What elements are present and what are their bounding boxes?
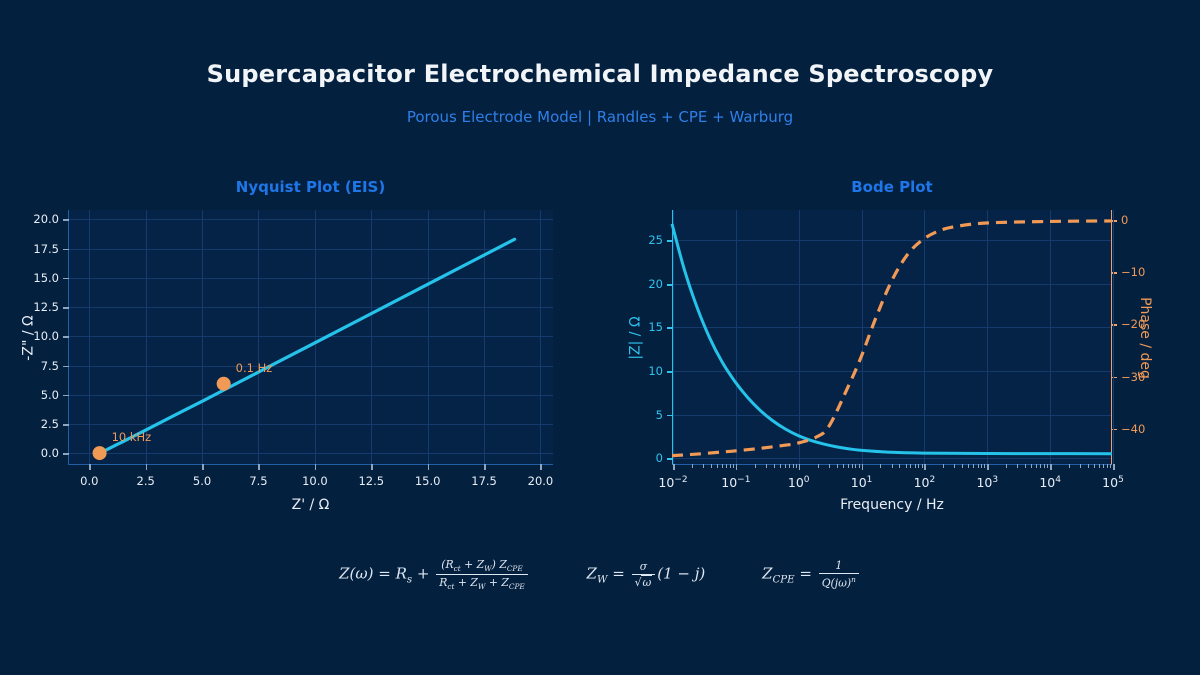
eq3-lhs: Z	[762, 565, 772, 583]
x-tick-label: 103	[976, 475, 998, 490]
eq2-den: ω	[641, 575, 652, 589]
eq1-num-c: ) Z	[492, 558, 507, 571]
eq1-num-a-sub: ct	[454, 564, 461, 573]
y-tick-label: 7.5	[41, 359, 59, 373]
eq1-numerator: (Rct + ZW) ZCPE	[436, 558, 527, 575]
y-tick-label-left: 10	[648, 364, 663, 378]
eq1-den-c: + Z	[485, 576, 508, 589]
figure-title: Supercapacitor Electrochemical Impedance…	[0, 60, 1200, 88]
nyquist-frequency-marker[interactable]	[93, 446, 107, 460]
eq2-equals: =	[607, 565, 629, 583]
x-tick-label: 5.0	[193, 474, 211, 488]
eq3-den-a: Q(jω)	[822, 577, 851, 590]
x-tick-label: 12.5	[358, 474, 384, 488]
nyquist-yaxis-label: -Z" / Ω	[21, 315, 37, 360]
eq1-den-c-sub: CPE	[509, 582, 525, 591]
eq2-denominator: √ω	[632, 575, 656, 589]
x-tick-label: 0.0	[80, 474, 98, 488]
eq2-numerator: σ	[632, 560, 656, 575]
eq3-fraction: 1 Q(jω)n	[819, 559, 859, 590]
x-tick-label: 10.0	[302, 474, 328, 488]
x-tick-label: 105	[1102, 475, 1124, 490]
gridline-vertical	[1113, 210, 1114, 464]
nyquist-xaxis-label: Z' / Ω	[292, 497, 330, 513]
x-tick-mark	[1113, 464, 1115, 470]
x-tick-label: 17.5	[471, 474, 497, 488]
nyquist-series-line	[100, 239, 515, 453]
y-tick-label: 2.5	[41, 417, 59, 431]
x-tick-label: 15.0	[415, 474, 441, 488]
eq2-lhs: Z	[587, 565, 597, 583]
bode-curves	[672, 210, 1112, 465]
nyquist-frequency-marker[interactable]	[217, 377, 231, 391]
nyquist-marker-label: 0.1 Hz	[236, 361, 273, 375]
figure-subtitle: Porous Electrode Model | Randles + CPE +…	[0, 108, 1200, 126]
eq3-equals: =	[795, 565, 817, 583]
eq1-num-b-sub: W	[484, 564, 492, 573]
nyquist-panel: Nyquist Plot (EIS) 0.02.55.07.510.012.51…	[68, 210, 553, 465]
eq3-lhs-sub: CPE	[773, 575, 795, 586]
eq1-denominator: Rct + ZW + ZCPE	[436, 575, 527, 591]
eq1-lhs-sub: s	[407, 575, 412, 586]
nyquist-marker-label: 10 kHz	[112, 430, 152, 444]
bode-phase-line	[672, 221, 1112, 456]
eq3-denominator: Q(jω)n	[819, 574, 859, 590]
bode-magnitude-line	[672, 224, 1112, 454]
x-tick-label: 102	[914, 475, 936, 490]
eq2-fraction: σ √ω	[632, 560, 656, 589]
y-tick-label-right: 0	[1121, 213, 1128, 227]
x-tick-label: 101	[851, 475, 873, 490]
y-tick-label: 12.5	[33, 300, 59, 314]
eq1-fraction: (Rct + ZW) ZCPE Rct + ZW + ZCPE	[436, 558, 527, 591]
eq3-numerator: 1	[819, 559, 859, 574]
x-tick-label: 10−2	[658, 475, 687, 490]
bode-xaxis-label: Frequency / Hz	[840, 497, 944, 513]
nyquist-curves	[68, 210, 553, 465]
x-tick-label: 7.5	[249, 474, 267, 488]
eq1-num-c-sub: CPE	[507, 564, 523, 573]
y-tick-label-right: −40	[1121, 422, 1145, 436]
x-tick-label: 100	[788, 475, 810, 490]
y-tick-label: 5.0	[41, 388, 59, 402]
bode-panel: Bode Plot 05101520250−10−20−30−4010−210−…	[672, 210, 1112, 465]
bode-left-yaxis-label: |Z| / Ω	[628, 316, 644, 359]
bode-plot-title: Bode Plot	[672, 178, 1112, 196]
y-tick-label-left: 0	[656, 451, 663, 465]
equation-warburg: ZW = σ √ω (1 − j)	[587, 560, 706, 589]
y-tick-label-left: 20	[648, 277, 663, 291]
x-tick-label: 10−1	[721, 475, 750, 490]
equation-cpe: ZCPE = 1 Q(jω)n	[762, 559, 861, 590]
eq3-den-exponent: n	[851, 575, 856, 584]
eq1-num-a: (R	[441, 558, 453, 571]
eq1-num-b: + Z	[461, 558, 484, 571]
y-tick-label: 20.0	[33, 212, 59, 226]
x-tick-label: 20.0	[528, 474, 554, 488]
eq2-lhs-sub: W	[597, 575, 607, 586]
y-tick-label-left: 15	[648, 320, 663, 334]
x-tick-label: 104	[1039, 475, 1061, 490]
y-tick-label: 17.5	[33, 242, 59, 256]
y-tick-label-right: −10	[1121, 265, 1145, 279]
x-tick-label: 2.5	[137, 474, 155, 488]
y-tick-label: 0.0	[41, 446, 59, 460]
equation-total-impedance: Z(ω) = Rs + (Rct + ZW) ZCPE Rct + ZW + Z…	[339, 558, 530, 591]
bode-right-yaxis-label: Phase / deg	[1137, 297, 1153, 379]
y-tick-label-left: 5	[656, 408, 663, 422]
nyquist-plot-title: Nyquist Plot (EIS)	[68, 178, 553, 196]
eq1-plus: +	[417, 565, 430, 583]
eq2-tail: (1 − j)	[657, 565, 705, 583]
y-tick-label-left: 25	[648, 233, 663, 247]
eq1-lhs: Z(ω) = R	[339, 565, 407, 583]
y-tick-label: 15.0	[33, 271, 59, 285]
y-tick-label: 10.0	[33, 329, 59, 343]
eq1-den-b: + Z	[454, 576, 477, 589]
equations-row: Z(ω) = Rs + (Rct + ZW) ZCPE Rct + ZW + Z…	[0, 558, 1200, 591]
